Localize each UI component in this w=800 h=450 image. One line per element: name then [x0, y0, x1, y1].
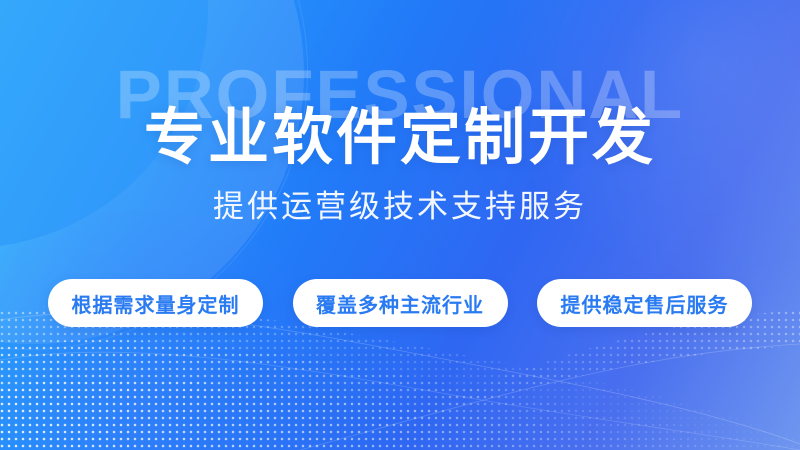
banner-content: 专业软件定制开发 提供运营级技术支持服务 根据需求量身定制 覆盖多种主流行业 提… — [0, 0, 800, 450]
feature-pill-3[interactable]: 提供稳定售后服务 — [537, 279, 752, 327]
subheadline: 提供运营级技术支持服务 — [0, 188, 800, 225]
feature-pill-2[interactable]: 覆盖多种主流行业 — [293, 279, 508, 327]
feature-pill-1[interactable]: 根据需求量身定制 — [48, 279, 263, 327]
feature-pill-2-label: 覆盖多种主流行业 — [316, 289, 484, 318]
feature-pill-row: 根据需求量身定制 覆盖多种主流行业 提供稳定售后服务 — [48, 279, 752, 327]
headline: 专业软件定制开发 — [0, 103, 800, 171]
feature-pill-1-label: 根据需求量身定制 — [72, 289, 240, 318]
promo-banner: PROFESSIONAL 专业软件定制开发 提供运营级技术支持服务 根据需求量身… — [0, 0, 800, 450]
feature-pill-3-label: 提供稳定售后服务 — [561, 289, 729, 318]
